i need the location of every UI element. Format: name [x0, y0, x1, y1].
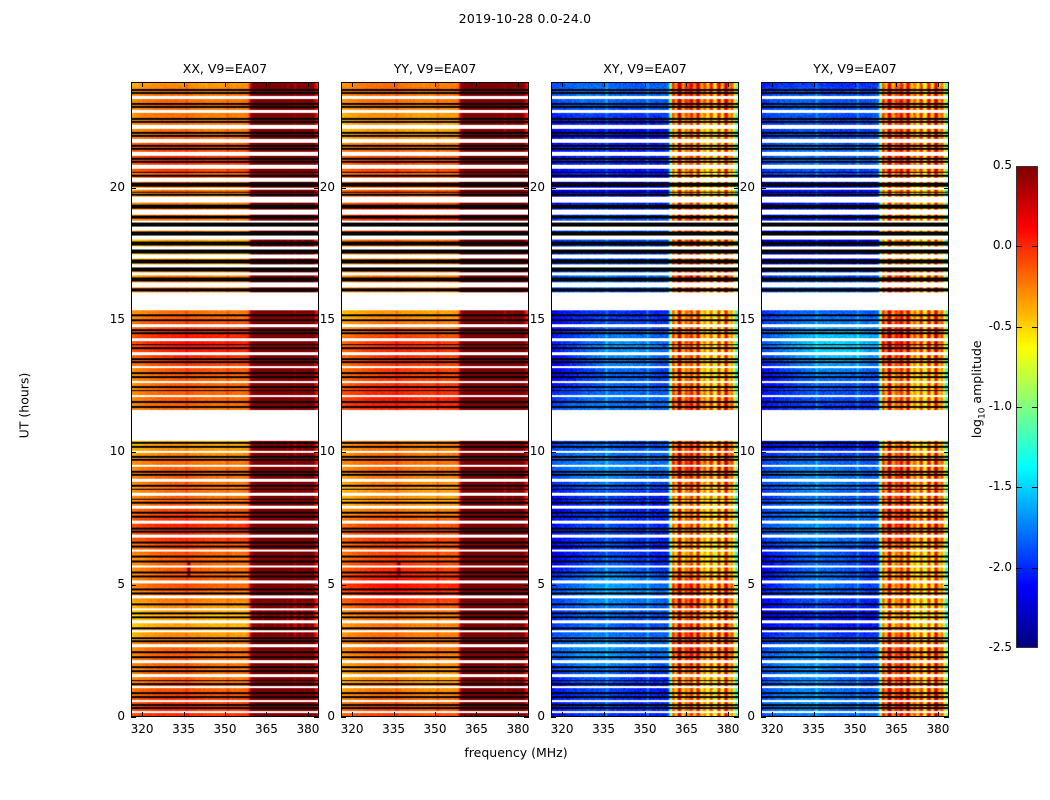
y-tick-mark — [341, 717, 346, 718]
x-tick-label-p2-1: 335 — [584, 722, 624, 736]
x-tick-label-p1-0: 320 — [332, 722, 372, 736]
y-tick-mark — [761, 188, 766, 189]
x-tick-mark — [142, 82, 143, 87]
x-tick-mark — [772, 82, 773, 87]
y-tick-mark — [341, 320, 346, 321]
y-tick-mark — [131, 452, 136, 453]
x-tick-label-p2-4: 380 — [708, 722, 748, 736]
y-tick-mark — [551, 452, 556, 453]
x-tick-mark — [938, 82, 939, 87]
x-tick-label-p1-3: 365 — [456, 722, 496, 736]
colorbar-tick-mark — [1032, 407, 1038, 408]
x-tick-mark — [645, 712, 646, 717]
y-tick-label-p3-2: 10 — [711, 444, 755, 458]
x-tick-mark — [938, 712, 939, 717]
y-tick-mark — [551, 188, 556, 189]
x-tick-mark — [476, 82, 477, 87]
x-tick-mark — [142, 712, 143, 717]
x-tick-mark — [855, 82, 856, 87]
panel-title-xy: XY, V9=EA07 — [551, 61, 739, 76]
y-tick-mark — [761, 452, 766, 453]
heatmap-xy — [552, 83, 738, 716]
x-tick-label-p0-0: 320 — [122, 722, 162, 736]
x-tick-mark — [394, 82, 395, 87]
x-tick-mark — [896, 82, 897, 87]
x-tick-mark — [225, 82, 226, 87]
y-tick-mark — [944, 717, 949, 718]
y-tick-mark — [341, 452, 346, 453]
y-tick-mark — [131, 320, 136, 321]
y-tick-label-p0-0: 0 — [81, 709, 125, 723]
x-tick-label-p3-2: 350 — [835, 722, 875, 736]
x-tick-mark — [184, 82, 185, 87]
y-tick-mark — [131, 585, 136, 586]
y-tick-label-p1-3: 15 — [291, 312, 335, 326]
y-tick-label-p1-4: 20 — [291, 180, 335, 194]
panel-yy[interactable] — [341, 82, 529, 717]
y-tick-label-p3-0: 0 — [711, 709, 755, 723]
y-tick-mark — [551, 585, 556, 586]
x-tick-mark — [604, 712, 605, 717]
colorbar-tick-label-6: -2.5 — [952, 640, 1012, 654]
x-tick-mark — [225, 712, 226, 717]
heatmap-yx — [762, 83, 948, 716]
x-tick-mark — [562, 712, 563, 717]
y-tick-label-p2-3: 15 — [501, 312, 545, 326]
panel-xy[interactable] — [551, 82, 739, 717]
x-tick-label-p3-4: 380 — [918, 722, 958, 736]
colorbar-tick-mark — [1016, 568, 1022, 569]
y-tick-label-p2-2: 10 — [501, 444, 545, 458]
y-tick-mark — [551, 320, 556, 321]
panel-yx[interactable] — [761, 82, 949, 717]
colorbar-tick-label-2: -0.5 — [952, 319, 1012, 333]
y-tick-label-p0-3: 15 — [81, 312, 125, 326]
y-tick-label-p0-1: 5 — [81, 577, 125, 591]
figure-title: 2019-10-28 0.0-24.0 — [0, 11, 1050, 26]
y-tick-mark — [944, 585, 949, 586]
x-tick-mark — [855, 712, 856, 717]
x-tick-mark — [814, 712, 815, 717]
y-tick-label-p2-1: 5 — [501, 577, 545, 591]
colorbar-tick-mark — [1032, 568, 1038, 569]
panel-title-yx: YX, V9=EA07 — [761, 61, 949, 76]
y-tick-mark — [551, 717, 556, 718]
colorbar-label-tail: amplitude — [969, 340, 984, 407]
colorbar-label-log: log — [969, 419, 984, 438]
y-axis-label: UT (hours) — [17, 346, 32, 466]
y-tick-mark — [341, 188, 346, 189]
colorbar-tick-mark — [1016, 407, 1022, 408]
x-tick-mark — [686, 712, 687, 717]
x-tick-label-p3-3: 365 — [876, 722, 916, 736]
x-tick-label-p2-2: 350 — [625, 722, 665, 736]
y-tick-mark — [761, 585, 766, 586]
x-tick-label-p0-3: 365 — [246, 722, 286, 736]
y-tick-label-p1-2: 10 — [291, 444, 335, 458]
y-tick-label-p1-1: 5 — [291, 577, 335, 591]
x-tick-label-p1-4: 380 — [498, 722, 538, 736]
x-tick-label-p0-1: 335 — [164, 722, 204, 736]
colorbar-tick-mark — [1016, 246, 1022, 247]
x-tick-label-p0-4: 380 — [288, 722, 328, 736]
x-tick-mark — [518, 82, 519, 87]
colorbar-tick-label-5: -2.0 — [952, 560, 1012, 574]
x-tick-label-p2-0: 320 — [542, 722, 582, 736]
x-tick-mark — [476, 712, 477, 717]
y-tick-mark — [944, 452, 949, 453]
x-tick-mark — [728, 82, 729, 87]
x-tick-label-p2-3: 365 — [666, 722, 706, 736]
colorbar-tick-mark — [1016, 327, 1022, 328]
heatmap-yy — [342, 83, 528, 716]
x-tick-mark — [645, 82, 646, 87]
heatmap-xx — [132, 83, 318, 716]
colorbar-tick-label-4: -1.5 — [952, 479, 1012, 493]
x-tick-mark — [814, 82, 815, 87]
y-tick-mark — [761, 717, 766, 718]
x-tick-mark — [266, 712, 267, 717]
y-tick-label-p2-0: 0 — [501, 709, 545, 723]
y-tick-label-p2-4: 20 — [501, 180, 545, 194]
colorbar-tick-label-1: 0.0 — [952, 238, 1012, 252]
x-tick-mark — [896, 712, 897, 717]
x-tick-mark — [184, 712, 185, 717]
y-tick-mark — [761, 320, 766, 321]
x-tick-label-p1-1: 335 — [374, 722, 414, 736]
y-tick-label-p0-2: 10 — [81, 444, 125, 458]
y-tick-mark — [131, 717, 136, 718]
panel-title-yy: YY, V9=EA07 — [341, 61, 529, 76]
y-tick-label-p0-4: 20 — [81, 180, 125, 194]
y-tick-mark — [131, 188, 136, 189]
x-tick-mark — [772, 712, 773, 717]
x-tick-label-p0-2: 350 — [205, 722, 245, 736]
x-tick-mark — [394, 712, 395, 717]
x-tick-mark — [352, 712, 353, 717]
x-axis-label: frequency (MHz) — [186, 745, 846, 760]
colorbar-tick-mark — [1016, 487, 1022, 488]
x-tick-mark — [435, 82, 436, 87]
x-tick-mark — [686, 82, 687, 87]
x-tick-mark — [352, 82, 353, 87]
x-tick-label-p1-2: 350 — [415, 722, 455, 736]
y-tick-label-p1-0: 0 — [291, 709, 335, 723]
x-tick-label-p3-1: 335 — [794, 722, 834, 736]
panel-xx[interactable] — [131, 82, 319, 717]
y-tick-mark — [944, 188, 949, 189]
y-tick-label-p3-3: 15 — [711, 312, 755, 326]
x-tick-mark — [562, 82, 563, 87]
y-tick-mark — [944, 320, 949, 321]
colorbar-tick-label-0: 0.5 — [952, 158, 1012, 172]
y-tick-label-p3-4: 20 — [711, 180, 755, 194]
y-tick-mark — [341, 585, 346, 586]
panel-title-xx: XX, V9=EA07 — [131, 61, 319, 76]
x-tick-label-p3-0: 320 — [752, 722, 792, 736]
colorbar-label: log10 amplitude — [969, 309, 988, 469]
x-tick-mark — [308, 82, 309, 87]
x-tick-mark — [266, 82, 267, 87]
colorbar-tick-mark — [1032, 487, 1038, 488]
colorbar-tick-label-3: -1.0 — [952, 399, 1012, 413]
x-tick-mark — [435, 712, 436, 717]
colorbar-tick-mark — [1032, 246, 1038, 247]
figure-canvas: 2019-10-28 0.0-24.0 XX, V9=EA07 YY, V9=E… — [0, 0, 1050, 800]
x-tick-mark — [604, 82, 605, 87]
y-tick-label-p3-1: 5 — [711, 577, 755, 591]
colorbar-tick-mark — [1032, 327, 1038, 328]
